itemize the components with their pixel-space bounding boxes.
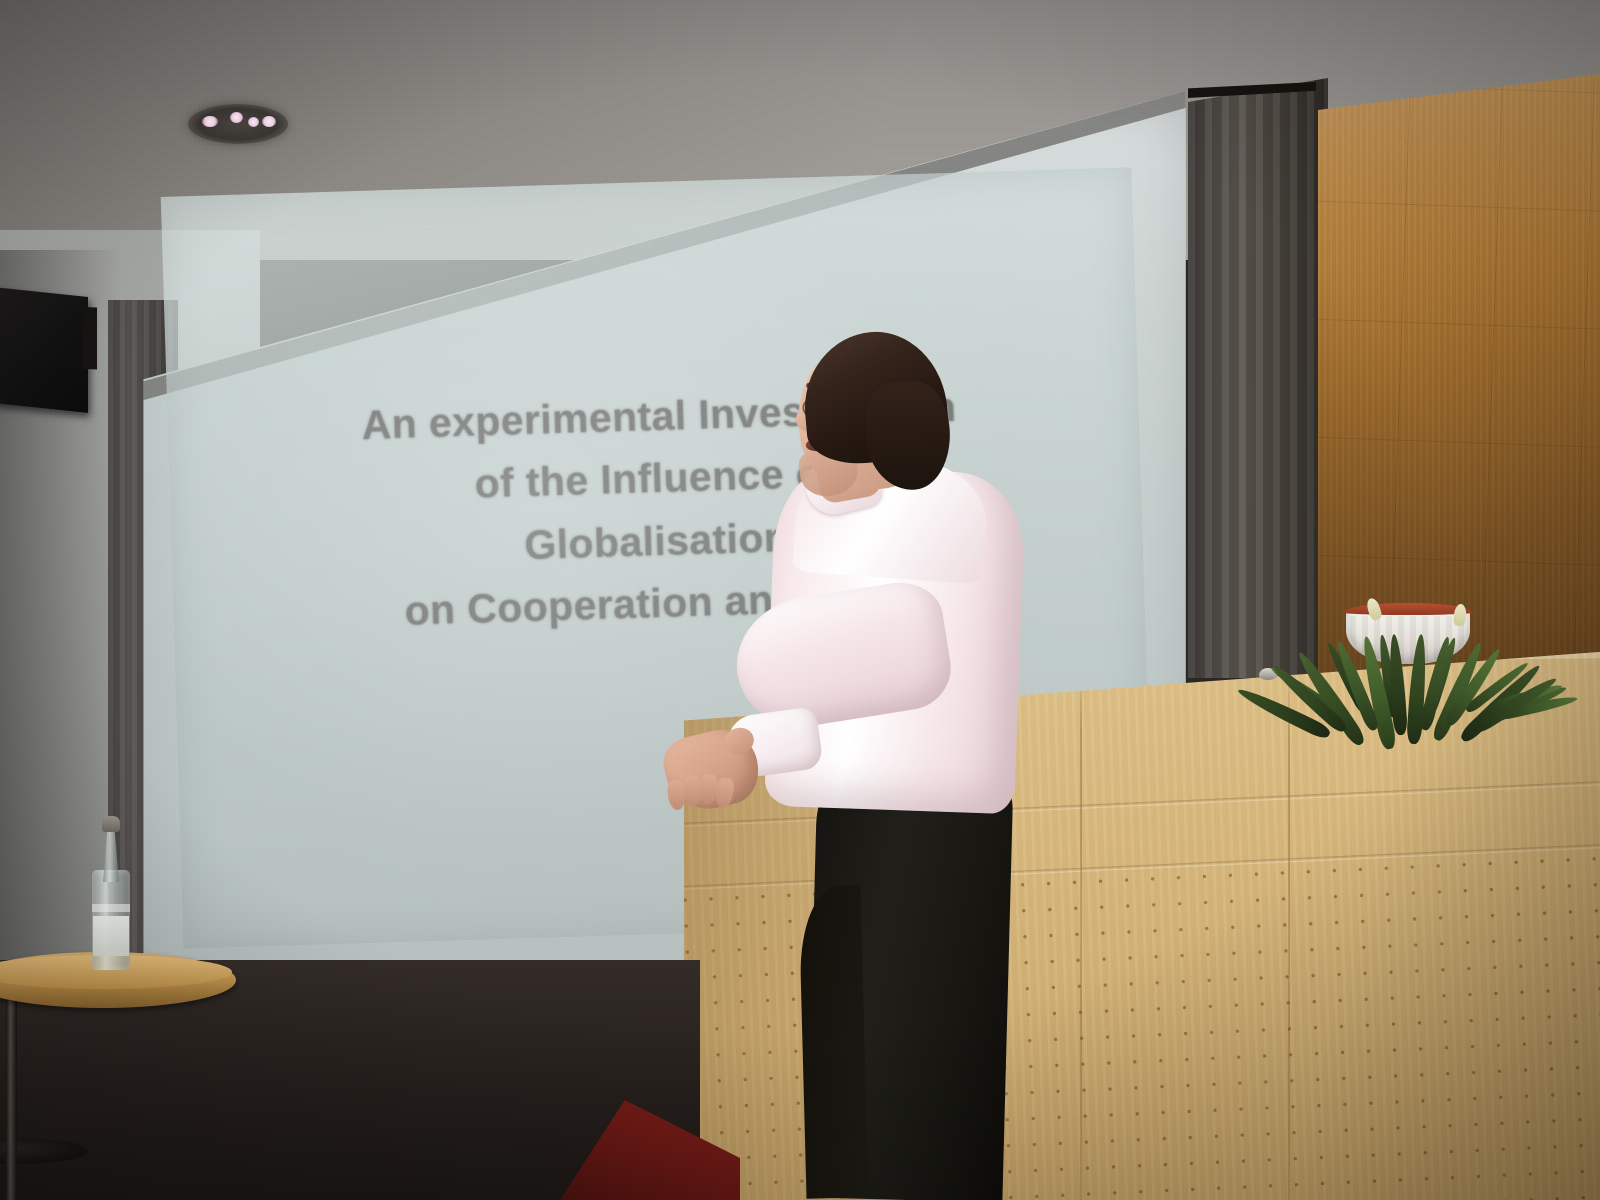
loudspeaker-icon (0, 287, 88, 413)
bottle-label (93, 916, 129, 956)
finger (683, 776, 701, 807)
presenter-trousers (806, 766, 1013, 1200)
bottle-ring (92, 904, 130, 912)
water-bottle-on-table (92, 812, 130, 970)
bottle-cap (102, 816, 120, 832)
side-table (0, 952, 240, 1200)
presentation-photo-scene: An experimental Investigation of the Inf… (0, 0, 1600, 1200)
presenter-fingers (668, 774, 742, 808)
bottle-neck (103, 828, 119, 882)
potted-plant (1218, 448, 1558, 680)
finger (699, 774, 718, 805)
presenter (620, 330, 1040, 1200)
table-leg (6, 1000, 17, 1200)
